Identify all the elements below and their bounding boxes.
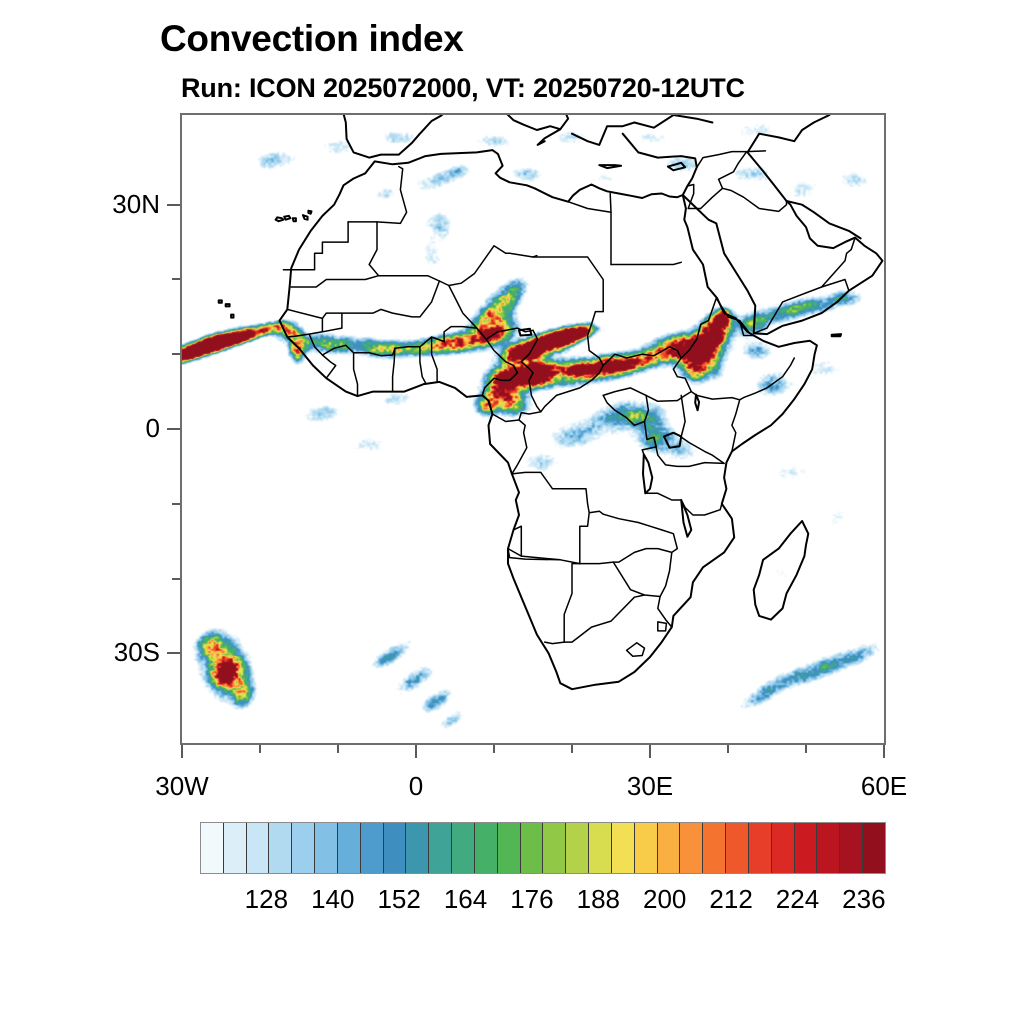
colorbar-cell <box>772 823 795 873</box>
colorbar-cell <box>863 823 885 873</box>
country-border-path <box>564 564 580 643</box>
country-border-path <box>701 188 787 211</box>
x-axis-label: 30W <box>112 771 252 802</box>
country-border-path <box>564 595 644 642</box>
country-border-path <box>322 313 342 332</box>
country-border-path <box>420 347 426 383</box>
colorbar-cell <box>612 823 635 873</box>
country-border-path <box>510 253 537 257</box>
coastline-path <box>599 165 621 168</box>
country-border-path <box>309 334 336 378</box>
page-subtitle: Run: ICON 2025072000, VT: 20250720-12UTC <box>181 73 745 104</box>
y-tick-major <box>167 652 180 654</box>
country-border-path <box>719 151 766 188</box>
country-border-path <box>754 280 849 334</box>
coastline-path <box>754 521 809 620</box>
y-tick-minor <box>172 278 180 280</box>
coastline-path <box>643 454 652 493</box>
y-tick-minor <box>172 353 180 355</box>
colorbar-tick-label: 212 <box>709 884 752 915</box>
colorbar-tick-label: 188 <box>577 884 620 915</box>
coastline-path <box>284 216 290 220</box>
coastline-path <box>219 300 222 302</box>
coastline-path <box>683 195 883 334</box>
x-tick-minor <box>571 745 573 753</box>
country-border-path <box>613 552 672 596</box>
coastline-path <box>226 304 230 306</box>
country-border-path <box>512 472 603 514</box>
colorbar-tick-label: 200 <box>643 884 686 915</box>
colorbar-cell <box>703 823 726 873</box>
coastline-path <box>231 315 233 318</box>
coastline-path <box>308 211 311 214</box>
country-border-path <box>627 643 645 657</box>
colorbar <box>200 822 886 874</box>
colorbar-cell <box>795 823 818 873</box>
y-tick-major <box>167 204 180 206</box>
x-tick-minor <box>805 745 807 753</box>
country-border-path <box>580 513 589 564</box>
x-tick-minor <box>493 745 495 753</box>
colorbar-tick-label: 128 <box>245 884 288 915</box>
country-border-path <box>291 222 378 287</box>
country-border-path <box>449 286 533 340</box>
x-tick-major <box>415 745 417 758</box>
coastline-path <box>668 163 685 171</box>
colorbar-cell <box>543 823 566 873</box>
country-border-path <box>444 327 477 342</box>
colorbar-cell <box>247 823 270 873</box>
colorbar-cell <box>475 823 498 873</box>
coastline-path <box>681 500 691 537</box>
country-border-path <box>512 412 541 474</box>
colorbar-cell <box>521 823 544 873</box>
country-border-path <box>508 549 560 560</box>
country-border-path <box>354 353 358 396</box>
colorbar-cell <box>589 823 612 873</box>
colorbar-cell <box>680 823 703 873</box>
country-border-path <box>492 414 519 422</box>
country-border-path <box>610 194 611 265</box>
country-border-path <box>287 318 322 337</box>
country-border-path <box>697 152 747 168</box>
colorbar-cell <box>817 823 840 873</box>
y-tick-minor <box>172 578 180 580</box>
country-border-path <box>642 395 656 454</box>
country-border-path <box>603 514 677 562</box>
country-border-path <box>482 339 517 395</box>
colorbar-cell <box>406 823 429 873</box>
map-panel <box>180 113 886 745</box>
colorbar-cell <box>201 823 224 873</box>
x-tick-major <box>883 745 885 758</box>
country-border-path <box>568 202 611 213</box>
x-tick-major <box>181 745 183 758</box>
colorbar-cell <box>384 823 407 873</box>
x-axis-label: 0 <box>346 771 486 802</box>
colorbar-cell <box>749 823 772 873</box>
country-border-path <box>680 437 724 464</box>
y-axis-label: 30N <box>5 189 160 220</box>
coastline-path <box>695 395 699 411</box>
colorbar-cell <box>224 823 247 873</box>
country-border-path <box>680 395 685 436</box>
y-axis-label: 30S <box>5 637 160 668</box>
colorbar-cell <box>429 823 452 873</box>
country-border-path <box>533 257 603 366</box>
colorbar-cell <box>361 823 384 873</box>
country-border-path <box>645 493 681 500</box>
coastline-path <box>280 150 817 689</box>
country-border-path <box>716 298 750 333</box>
coastline-path <box>293 218 296 221</box>
coastline-path <box>787 201 861 238</box>
colorbar-cell <box>566 823 589 873</box>
map-borders-overlay <box>182 115 884 743</box>
coastline-path <box>832 334 841 336</box>
country-border-path <box>508 549 613 564</box>
colorbar-cell <box>292 823 315 873</box>
country-border-path <box>658 622 667 631</box>
country-border-path <box>432 337 438 381</box>
coastline-path <box>276 217 284 221</box>
x-tick-minor <box>259 745 261 753</box>
country-border-path <box>603 358 691 401</box>
country-border-path <box>348 167 407 224</box>
colorbar-cell <box>452 823 475 873</box>
colorbar-cell <box>269 823 292 873</box>
coastline-path <box>664 433 681 448</box>
x-axis-label: 30E <box>580 771 720 802</box>
colorbar-tick-label: 236 <box>842 884 885 915</box>
country-border-path <box>603 347 681 366</box>
x-tick-minor <box>727 745 729 753</box>
coastline-path <box>342 115 560 158</box>
country-border-path <box>529 373 541 412</box>
colorbar-tick-label: 152 <box>377 884 420 915</box>
country-border-path <box>521 330 537 373</box>
country-border-path <box>732 400 740 452</box>
coastline-path <box>748 115 830 201</box>
x-tick-minor <box>337 745 339 753</box>
colorbar-tick-label: 140 <box>311 884 354 915</box>
country-border-path <box>611 262 681 264</box>
x-tick-major <box>649 745 651 758</box>
colorbar-cell <box>315 823 338 873</box>
colorbar-cell <box>726 823 749 873</box>
x-axis-label: 60E <box>814 771 954 802</box>
y-axis-label: 0 <box>5 413 160 444</box>
colorbar-tick-label: 164 <box>444 884 487 915</box>
country-border-path <box>379 246 510 286</box>
colorbar-cell <box>498 823 521 873</box>
page-title: Convection index <box>160 18 464 60</box>
colorbar-cell <box>840 823 863 873</box>
coastline-path <box>623 134 697 195</box>
colorbar-cells <box>200 822 886 874</box>
colorbar-cell <box>658 823 681 873</box>
country-border-path <box>603 395 644 425</box>
coastline-path <box>572 115 712 145</box>
colorbar-cell <box>338 823 361 873</box>
country-border-path <box>681 298 716 358</box>
colorbar-cell <box>635 823 658 873</box>
country-border-path <box>322 337 444 356</box>
coastline-path <box>303 215 308 220</box>
country-border-path <box>654 437 724 466</box>
colorbar-tick-label: 176 <box>510 884 553 915</box>
country-border-path <box>556 366 603 396</box>
country-border-path <box>691 358 794 400</box>
convection-index-figure: Convection index Run: ICON 2025072000, V… <box>0 0 1024 1024</box>
country-border-path <box>541 395 557 411</box>
colorbar-tick-label: 224 <box>776 884 819 915</box>
country-border-path <box>545 642 565 644</box>
y-tick-minor <box>172 503 180 505</box>
y-tick-major <box>167 428 180 430</box>
